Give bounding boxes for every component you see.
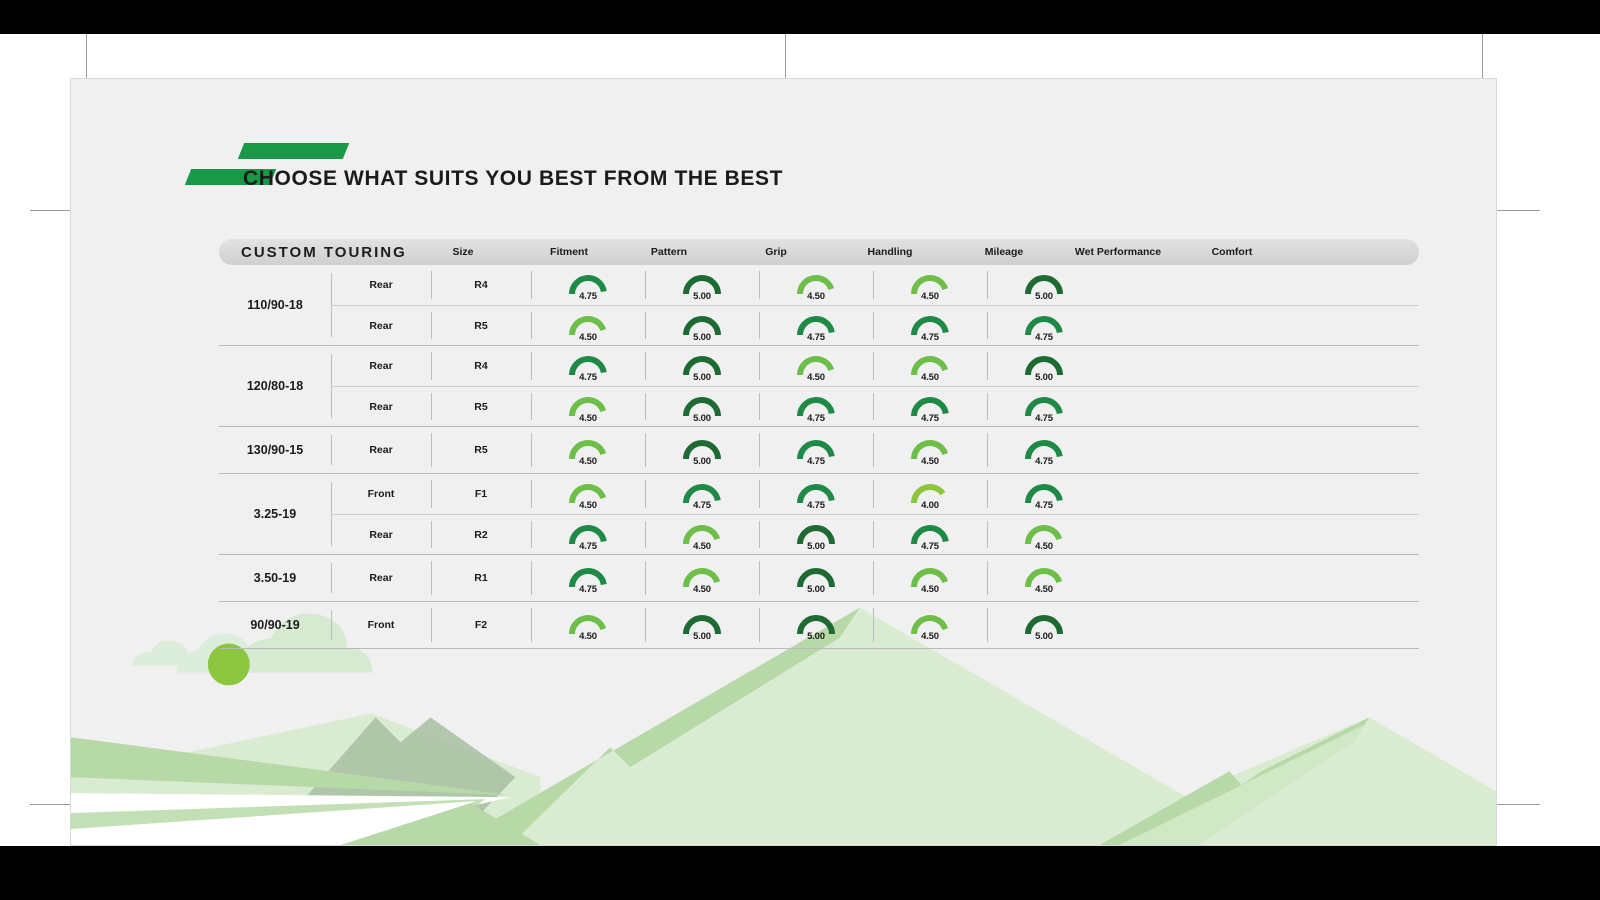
handling-value: 4.75 — [676, 500, 728, 511]
print-page: CHOOSE WHAT SUITS YOU BEST FROM THE BEST… — [0, 34, 1600, 846]
size-cell: 3.25-19 — [219, 474, 331, 554]
pattern-cell: F1 — [431, 474, 531, 514]
handling-cell: 5.00 — [645, 306, 759, 345]
comfort-cell: 4.50 — [987, 555, 1101, 601]
comfort-cell: 5.00 — [987, 602, 1101, 648]
table-row[interactable]: RearR14.754.505.004.504.50 — [331, 555, 1419, 601]
comfort-cell: 4.75 — [987, 387, 1101, 426]
mileage-cell: 4.50 — [759, 346, 873, 386]
grip-value: 4.75 — [562, 291, 614, 302]
mileage-gauge: 5.00 — [790, 562, 842, 594]
wet-performance-cell: 4.75 — [873, 306, 987, 345]
mileage-value: 5.00 — [790, 584, 842, 595]
handling-value: 5.00 — [676, 291, 728, 302]
comfort-value: 5.00 — [1018, 291, 1070, 302]
group-rows: RearR44.755.004.504.505.00RearR54.505.00… — [331, 346, 1419, 426]
size-cell: 130/90-15 — [219, 427, 331, 473]
grip-cell: 4.75 — [531, 515, 645, 554]
comfort-gauge: 4.50 — [1018, 519, 1070, 551]
fitment-cell: Rear — [331, 265, 431, 305]
mileage-cell: 4.75 — [759, 474, 873, 514]
screenshot-stage: CHOOSE WHAT SUITS YOU BEST FROM THE BEST… — [0, 0, 1600, 900]
handling-value: 4.50 — [676, 541, 728, 552]
handling-gauge: 4.75 — [676, 478, 728, 510]
wet-performance-gauge: 4.00 — [904, 478, 956, 510]
content-panel: CHOOSE WHAT SUITS YOU BEST FROM THE BEST… — [70, 78, 1497, 846]
handling-value: 5.00 — [676, 332, 728, 343]
mileage-gauge: 4.50 — [790, 350, 842, 382]
wet-performance-value: 4.50 — [904, 456, 956, 467]
grip-gauge: 4.50 — [562, 478, 614, 510]
comfort-cell: 4.75 — [987, 427, 1101, 473]
size-cell: 120/80-18 — [219, 346, 331, 426]
comfort-gauge: 5.00 — [1018, 609, 1070, 641]
column-header-comfort: Comfort — [1175, 246, 1289, 258]
fitment-cell: Front — [331, 602, 431, 648]
table-group[interactable]: 3.25-19FrontF14.504.754.754.004.75RearR2… — [219, 474, 1419, 555]
table-row[interactable]: RearR44.755.004.504.505.00 — [331, 346, 1419, 386]
mileage-value: 4.75 — [790, 500, 842, 511]
comfort-value: 4.75 — [1018, 413, 1070, 424]
comfort-cell: 5.00 — [987, 265, 1101, 305]
mileage-value: 4.50 — [790, 372, 842, 383]
grip-value: 4.75 — [562, 541, 614, 552]
wet-performance-value: 4.75 — [904, 332, 956, 343]
comfort-value: 4.50 — [1018, 541, 1070, 552]
grip-cell: 4.50 — [531, 427, 645, 473]
comfort-gauge: 5.00 — [1018, 350, 1070, 382]
mileage-gauge: 4.75 — [790, 310, 842, 342]
wet-performance-value: 4.50 — [904, 631, 956, 642]
handling-gauge: 5.00 — [676, 609, 728, 641]
wet-performance-gauge: 4.75 — [904, 391, 956, 423]
fitment-cell: Rear — [331, 387, 431, 426]
pattern-cell: R5 — [431, 387, 531, 426]
wet-performance-gauge: 4.50 — [904, 562, 956, 594]
grip-value: 4.50 — [562, 500, 614, 511]
wet-performance-gauge: 4.75 — [904, 310, 956, 342]
table-row[interactable]: RearR24.754.505.004.754.50 — [331, 514, 1419, 554]
grip-gauge: 4.75 — [562, 562, 614, 594]
handling-value: 5.00 — [676, 413, 728, 424]
size-cell: 90/90-19 — [219, 602, 331, 648]
comfort-cell: 5.00 — [987, 346, 1101, 386]
wet-performance-gauge: 4.50 — [904, 609, 956, 641]
grip-value: 4.50 — [562, 456, 614, 467]
handling-gauge: 4.50 — [676, 519, 728, 551]
mileage-gauge: 4.50 — [790, 269, 842, 301]
mileage-cell: 4.50 — [759, 265, 873, 305]
handling-gauge: 5.00 — [676, 391, 728, 423]
sun-circle — [208, 644, 250, 686]
pattern-cell: R4 — [431, 265, 531, 305]
comfort-value: 4.75 — [1018, 456, 1070, 467]
wet-performance-cell: 4.50 — [873, 427, 987, 473]
mileage-value: 5.00 — [790, 631, 842, 642]
mileage-value: 4.75 — [790, 332, 842, 343]
pattern-cell: R5 — [431, 427, 531, 473]
wet-performance-value: 4.75 — [904, 541, 956, 552]
wet-performance-value: 4.50 — [904, 584, 956, 595]
mileage-gauge: 5.00 — [790, 609, 842, 641]
table-group[interactable]: 110/90-18RearR44.755.004.504.505.00RearR… — [219, 265, 1419, 346]
wet-performance-gauge: 4.50 — [904, 269, 956, 301]
column-header-grip: Grip — [719, 246, 833, 258]
table-group[interactable]: 120/80-18RearR44.755.004.504.505.00RearR… — [219, 346, 1419, 427]
column-header-wet: Wet Performance — [1061, 246, 1175, 258]
column-header-handling: Handling — [833, 246, 947, 258]
handling-cell: 5.00 — [645, 427, 759, 473]
comfort-value: 5.00 — [1018, 372, 1070, 383]
handling-cell: 5.00 — [645, 265, 759, 305]
comfort-gauge: 4.50 — [1018, 562, 1070, 594]
mileage-cell: 4.75 — [759, 387, 873, 426]
table-group[interactable]: 3.50-19RearR14.754.505.004.504.50 — [219, 555, 1419, 602]
mileage-cell: 5.00 — [759, 555, 873, 601]
wet-performance-cell: 4.50 — [873, 265, 987, 305]
mileage-cell: 4.75 — [759, 427, 873, 473]
handling-cell: 5.00 — [645, 602, 759, 648]
brand-bar-top — [238, 143, 349, 159]
wet-performance-cell: 4.50 — [873, 555, 987, 601]
table-group[interactable]: 130/90-15RearR54.505.004.754.504.75 — [219, 427, 1419, 474]
size-cell: 3.50-19 — [219, 555, 331, 601]
fitment-cell: Rear — [331, 515, 431, 554]
comfort-value: 5.00 — [1018, 631, 1070, 642]
page-title: CHOOSE WHAT SUITS YOU BEST FROM THE BEST — [243, 167, 783, 191]
grip-gauge: 4.50 — [562, 391, 614, 423]
table-body: 110/90-18RearR44.755.004.504.505.00RearR… — [219, 265, 1419, 649]
comfort-gauge: 4.75 — [1018, 310, 1070, 342]
comfort-value: 4.50 — [1018, 584, 1070, 595]
grip-value: 4.50 — [562, 413, 614, 424]
table-row[interactable]: FrontF24.505.005.004.505.00 — [331, 602, 1419, 648]
comparison-table: CUSTOM TOURING Size Fitment Pattern Grip… — [219, 239, 1419, 649]
wet-performance-value: 4.50 — [904, 291, 956, 302]
grip-cell: 4.50 — [531, 474, 645, 514]
wet-performance-gauge: 4.50 — [904, 434, 956, 466]
mileage-gauge: 4.75 — [790, 434, 842, 466]
handling-gauge: 4.50 — [676, 562, 728, 594]
fitment-cell: Front — [331, 474, 431, 514]
handling-cell: 4.75 — [645, 474, 759, 514]
comfort-gauge: 4.75 — [1018, 478, 1070, 510]
grip-value: 4.50 — [562, 631, 614, 642]
table-row[interactable]: RearR54.505.004.754.754.75 — [331, 305, 1419, 345]
grip-cell: 4.50 — [531, 387, 645, 426]
handling-gauge: 5.00 — [676, 434, 728, 466]
fitment-cell: Rear — [331, 306, 431, 345]
fitment-cell: Rear — [331, 427, 431, 473]
comfort-cell: 4.50 — [987, 515, 1101, 554]
group-rows: RearR44.755.004.504.505.00RearR54.505.00… — [331, 265, 1419, 345]
mileage-cell: 4.75 — [759, 306, 873, 345]
group-rows: FrontF14.504.754.754.004.75RearR24.754.5… — [331, 474, 1419, 554]
grip-value: 4.75 — [562, 372, 614, 383]
pattern-cell: R5 — [431, 306, 531, 345]
table-group[interactable]: 90/90-19FrontF24.505.005.004.505.00 — [219, 602, 1419, 649]
comfort-cell: 4.75 — [987, 474, 1101, 514]
fitment-cell: Rear — [331, 346, 431, 386]
column-header-mileage: Mileage — [947, 246, 1061, 258]
handling-gauge: 5.00 — [676, 310, 728, 342]
comfort-value: 4.75 — [1018, 332, 1070, 343]
table-header-row: CUSTOM TOURING Size Fitment Pattern Grip… — [219, 239, 1419, 265]
column-header-fitment: Fitment — [519, 246, 619, 258]
grip-cell: 4.75 — [531, 265, 645, 305]
category-label: CUSTOM TOURING — [219, 244, 407, 261]
wet-performance-value: 4.75 — [904, 413, 956, 424]
wet-performance-cell: 4.50 — [873, 346, 987, 386]
grip-gauge: 4.75 — [562, 269, 614, 301]
mileage-cell: 5.00 — [759, 602, 873, 648]
wet-performance-cell: 4.75 — [873, 515, 987, 554]
wet-performance-gauge: 4.50 — [904, 350, 956, 382]
grip-gauge: 4.75 — [562, 519, 614, 551]
comfort-gauge: 5.00 — [1018, 269, 1070, 301]
comfort-gauge: 4.75 — [1018, 434, 1070, 466]
mileage-gauge: 5.00 — [790, 519, 842, 551]
mileage-cell: 5.00 — [759, 515, 873, 554]
wet-performance-cell: 4.00 — [873, 474, 987, 514]
group-rows: RearR14.754.505.004.504.50 — [331, 555, 1419, 601]
grip-cell: 4.75 — [531, 346, 645, 386]
comfort-cell: 4.75 — [987, 306, 1101, 345]
column-header-size: Size — [407, 246, 519, 258]
pattern-cell: R4 — [431, 346, 531, 386]
handling-cell: 4.50 — [645, 515, 759, 554]
table-row[interactable]: FrontF14.504.754.754.004.75 — [331, 474, 1419, 514]
handling-cell: 4.50 — [645, 555, 759, 601]
pattern-cell: R1 — [431, 555, 531, 601]
mileage-value: 4.50 — [790, 291, 842, 302]
handling-gauge: 5.00 — [676, 269, 728, 301]
group-rows: RearR54.505.004.754.504.75 — [331, 427, 1419, 473]
grip-gauge: 4.50 — [562, 609, 614, 641]
wet-performance-cell: 4.75 — [873, 387, 987, 426]
handling-cell: 5.00 — [645, 387, 759, 426]
wet-performance-gauge: 4.75 — [904, 519, 956, 551]
mileage-value: 4.75 — [790, 413, 842, 424]
handling-value: 5.00 — [676, 456, 728, 467]
handling-value: 5.00 — [676, 631, 728, 642]
table-row[interactable]: RearR54.505.004.754.504.75 — [331, 427, 1419, 473]
group-rows: FrontF24.505.005.004.505.00 — [331, 602, 1419, 648]
handling-value: 5.00 — [676, 372, 728, 383]
grip-value: 4.50 — [562, 332, 614, 343]
size-cell: 110/90-18 — [219, 265, 331, 345]
pattern-cell: F2 — [431, 602, 531, 648]
comfort-value: 4.75 — [1018, 500, 1070, 511]
table-row[interactable]: RearR44.755.004.504.505.00 — [331, 265, 1419, 305]
grip-gauge: 4.75 — [562, 350, 614, 382]
handling-value: 4.50 — [676, 584, 728, 595]
grip-cell: 4.75 — [531, 555, 645, 601]
comfort-gauge: 4.75 — [1018, 391, 1070, 423]
mileage-gauge: 4.75 — [790, 478, 842, 510]
grip-cell: 4.50 — [531, 306, 645, 345]
mileage-value: 4.75 — [790, 456, 842, 467]
wet-performance-value: 4.00 — [904, 500, 956, 511]
fitment-cell: Rear — [331, 555, 431, 601]
column-header-pattern: Pattern — [619, 246, 719, 258]
pattern-cell: R2 — [431, 515, 531, 554]
handling-cell: 5.00 — [645, 346, 759, 386]
table-row[interactable]: RearR54.505.004.754.754.75 — [331, 386, 1419, 426]
mileage-value: 5.00 — [790, 541, 842, 552]
handling-gauge: 5.00 — [676, 350, 728, 382]
mileage-gauge: 4.75 — [790, 391, 842, 423]
wet-performance-cell: 4.50 — [873, 602, 987, 648]
grip-cell: 4.50 — [531, 602, 645, 648]
grip-gauge: 4.50 — [562, 310, 614, 342]
wet-performance-value: 4.50 — [904, 372, 956, 383]
grip-value: 4.75 — [562, 584, 614, 595]
grip-gauge: 4.50 — [562, 434, 614, 466]
